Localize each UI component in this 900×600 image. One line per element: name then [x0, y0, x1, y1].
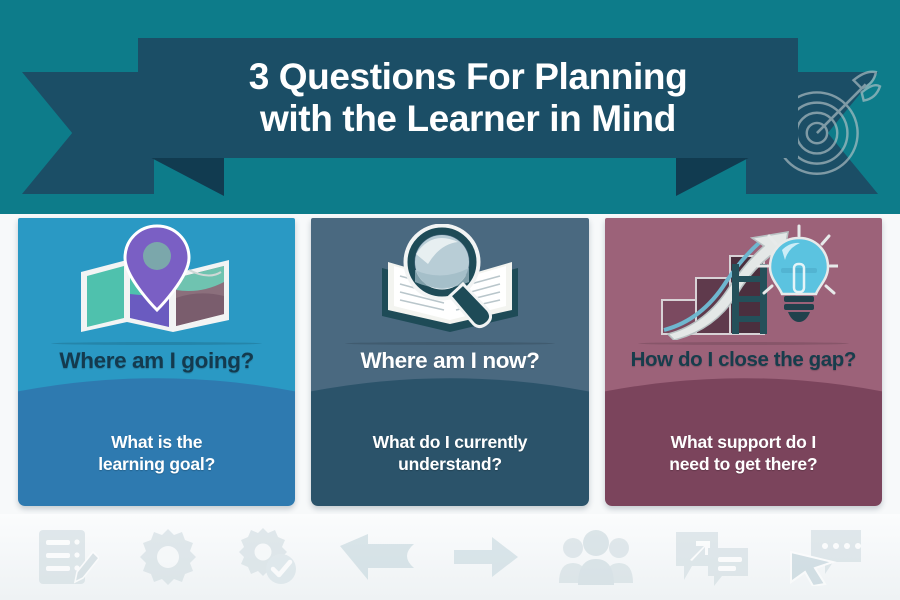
ribbon-tail-left — [22, 72, 154, 194]
card-3-sub-line-2: need to get there? — [669, 454, 817, 474]
card-3-artwork — [605, 222, 882, 342]
card-1-art-shadow — [51, 342, 262, 345]
growth-chart-ladder-lightbulb-icon — [648, 224, 838, 340]
card-1-bottom-panel: What is the learning goal? — [18, 398, 295, 506]
question-cards-row: Where am I going? What is the learning g… — [0, 214, 900, 514]
card-1-wave-divider — [18, 376, 295, 420]
card-2-sub-line-1: What do I currently — [373, 432, 528, 452]
card-where-am-i-now[interactable]: Where am I now? What do I currently unde… — [311, 218, 588, 506]
card-2-sub-line-2: understand? — [398, 454, 502, 474]
card-2-art-shadow — [345, 342, 556, 345]
ribbon-arrow-icon — [338, 532, 416, 582]
card-1-sub-question: What is the learning goal? — [26, 432, 287, 476]
card-3-art-shadow — [638, 342, 849, 345]
title-ribbon: 3 Questions For Planning with the Learne… — [138, 38, 798, 158]
chat-bubble-cursor-icon — [789, 528, 863, 586]
card-3-question: How do I close the gap? — [605, 348, 882, 372]
card-3-sub-line-1: What support do I — [671, 432, 816, 452]
arrow-right-icon — [454, 535, 518, 579]
title-line-1: 3 Questions For Planning — [249, 56, 688, 97]
speech-bubbles-arrow-icon — [674, 528, 750, 586]
card-where-am-i-going[interactable]: Where am I going? What is the learning g… — [18, 218, 295, 506]
card-1-sub-line-2: learning goal? — [98, 454, 215, 474]
card-3-wave-divider — [605, 376, 882, 420]
card-1-question: Where am I going? — [18, 348, 295, 374]
header-banner: 3 Questions For Planning with the Learne… — [0, 0, 900, 214]
card-1-artwork — [18, 222, 295, 342]
infographic-poster: 3 Questions For Planning with the Learne… — [0, 0, 900, 600]
map-with-location-pin-icon — [69, 224, 245, 340]
card-3-bottom-panel: What support do I need to get there? — [605, 398, 882, 506]
card-2-bottom-panel: What do I currently understand? — [311, 398, 588, 506]
card-2-sub-question: What do I currently understand? — [319, 432, 580, 476]
gear-check-icon — [237, 527, 299, 587]
card-2-artwork — [311, 222, 588, 342]
people-group-icon — [557, 529, 635, 585]
card-2-question: Where am I now? — [311, 348, 588, 374]
footer-icon-strip — [0, 514, 900, 600]
gear-icon — [138, 527, 198, 587]
checklist-pencil-icon — [37, 528, 99, 586]
page-title: 3 Questions For Planning with the Learne… — [249, 56, 688, 140]
footer-icons-container — [0, 514, 900, 600]
title-line-2: with the Learner in Mind — [249, 98, 688, 140]
card-how-do-i-close-the-gap[interactable]: How do I close the gap? What support do … — [605, 218, 882, 506]
card-2-wave-divider — [311, 376, 588, 420]
card-3-sub-question: What support do I need to get there? — [613, 432, 874, 476]
open-book-with-magnifier-icon — [362, 224, 538, 340]
card-1-sub-line-1: What is the — [111, 432, 202, 452]
